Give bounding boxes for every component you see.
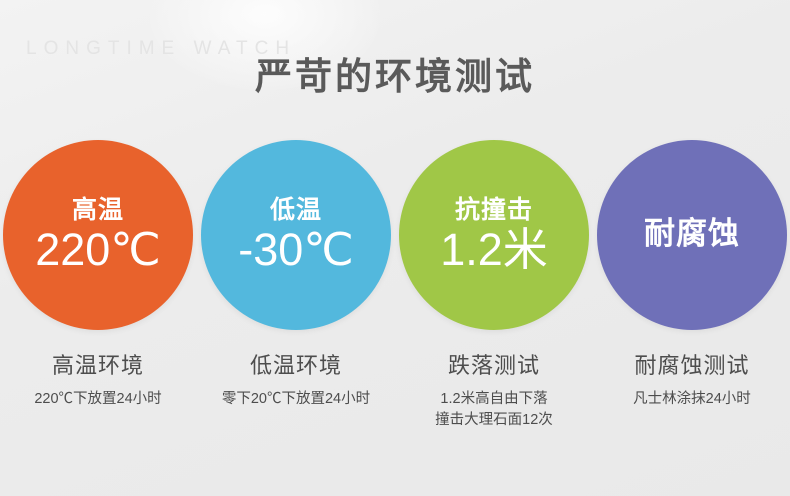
caption-title: 耐腐蚀测试	[633, 352, 751, 381]
circle-value: 1.2米	[440, 226, 548, 273]
caption-description: 凡士林涂抹24小时	[633, 389, 751, 410]
test-caption: 耐腐蚀测试 凡士林涂抹24小时	[633, 352, 751, 410]
page-title: 严苛的环境测试	[0, 46, 790, 100]
circle-value: -30℃	[238, 226, 354, 273]
test-caption: 高温环境 220℃下放置24小时	[34, 352, 161, 410]
test-circle-corrosion: 耐腐蚀	[597, 140, 787, 330]
poster-page: LONGTIME WATCH 严苛的环境测试 高温 220℃ 高温环境 220℃…	[0, 0, 790, 496]
test-circle-low-temp: 低温 -30℃	[201, 140, 391, 330]
caption-title: 跌落测试	[435, 352, 553, 381]
caption-title: 低温环境	[222, 352, 370, 381]
caption-description: 零下20℃下放置24小时	[222, 389, 370, 410]
circle-label: 低温	[270, 197, 322, 225]
test-item: 抗撞击 1.2米 跌落测试 1.2米高自由下落 撞击大理石面12次	[399, 140, 589, 431]
circle-label: 高温	[72, 197, 124, 225]
test-item: 高温 220℃ 高温环境 220℃下放置24小时	[3, 140, 193, 431]
test-items-row: 高温 220℃ 高温环境 220℃下放置24小时 低温 -30℃ 低温环境 零下…	[0, 140, 790, 431]
test-item: 低温 -30℃ 低温环境 零下20℃下放置24小时	[201, 140, 391, 431]
test-circle-impact: 抗撞击 1.2米	[399, 140, 589, 330]
caption-description: 220℃下放置24小时	[34, 389, 161, 410]
circle-label: 耐腐蚀	[644, 217, 740, 251]
test-caption: 跌落测试 1.2米高自由下落 撞击大理石面12次	[435, 352, 553, 431]
circle-value: 220℃	[35, 226, 161, 273]
test-caption: 低温环境 零下20℃下放置24小时	[222, 352, 370, 410]
caption-description: 1.2米高自由下落 撞击大理石面12次	[435, 389, 553, 431]
test-item: 耐腐蚀 耐腐蚀测试 凡士林涂抹24小时	[597, 140, 787, 431]
circle-label: 抗撞击	[455, 197, 533, 225]
test-circle-high-temp: 高温 220℃	[3, 140, 193, 330]
caption-title: 高温环境	[34, 352, 161, 381]
